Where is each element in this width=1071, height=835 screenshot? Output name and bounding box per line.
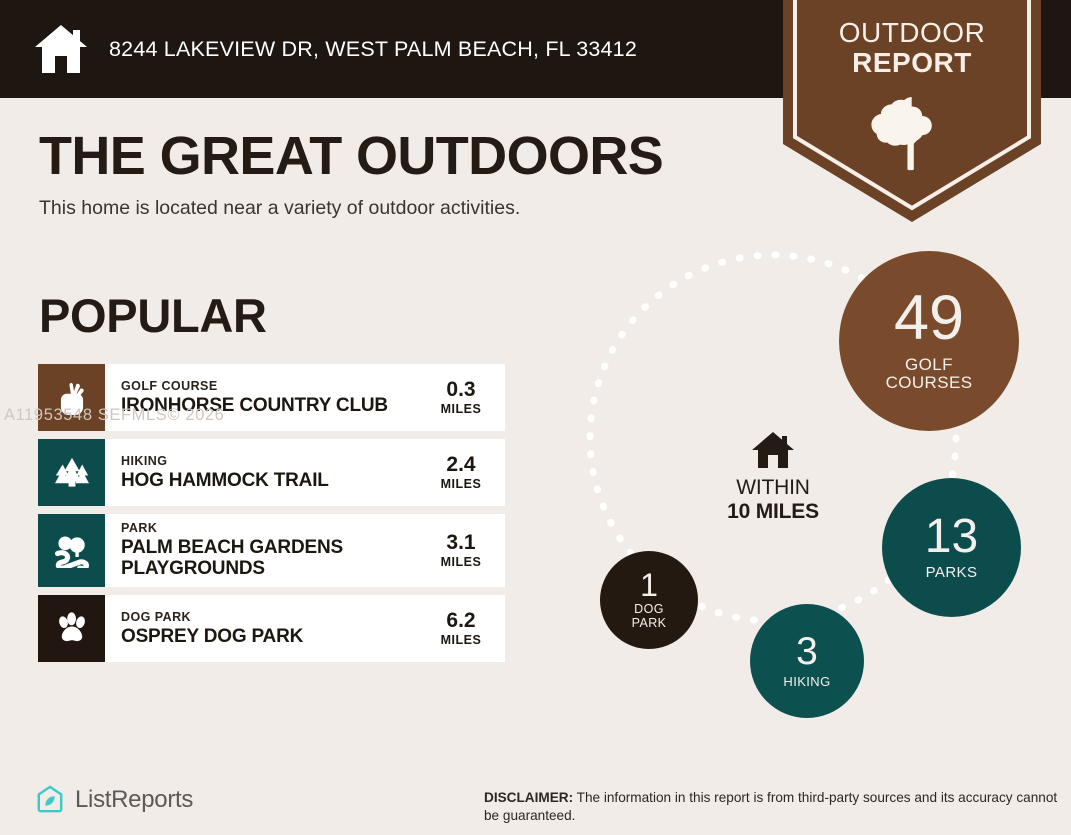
bubble-value: 1 (640, 570, 658, 600)
list-item-distance: 0.3 MILES (431, 379, 491, 416)
list-item[interactable]: PARK PALM BEACH GARDENS PLAYGROUNDS 3.1 … (38, 514, 505, 587)
bubble-label-line-1: DOG (632, 603, 667, 617)
popular-list: GOLF COURSE IRONHORSE COUNTRY CLUB 0.3 M… (38, 364, 505, 670)
disclaimer-label: DISCLAIMER: (484, 790, 573, 805)
within-10-miles-diagram: 49 GOLF COURSES 13 PARKS 3 HIKING 1 DOG … (575, 240, 1071, 740)
pine-trees-icon (38, 439, 105, 506)
list-item[interactable]: DOG PARK OSPREY DOG PARK 6.2 MILES (38, 595, 505, 662)
list-item-body: HIKING HOG HAMMOCK TRAIL 2.4 MILES (105, 439, 505, 506)
bubble-dog-park[interactable]: 1 DOG PARK (600, 551, 698, 649)
outdoor-report-page: 8244 LAKEVIEW DR, WEST PALM BEACH, FL 33… (0, 0, 1071, 835)
bubble-label-line-1: GOLF (886, 356, 973, 374)
list-item-body: PARK PALM BEACH GARDENS PLAYGROUNDS 3.1 … (105, 514, 505, 587)
list-item-category: HIKING (121, 454, 329, 470)
header-address: 8244 LAKEVIEW DR, WEST PALM BEACH, FL 33… (109, 37, 637, 62)
list-item-text: DOG PARK OSPREY DOG PARK (121, 610, 303, 647)
list-item-name: OSPREY DOG PARK (121, 626, 303, 647)
page-subtitle: This home is located near a variety of o… (39, 197, 663, 220)
diagram-center-label: WITHIN 10 MILES (713, 430, 833, 523)
bubble-label: GOLF COURSES (886, 356, 973, 393)
golf-bag-icon (38, 364, 105, 431)
park-trees-path-icon (38, 514, 105, 587)
bubble-value: 13 (925, 514, 978, 560)
list-item-text: PARK PALM BEACH GARDENS PLAYGROUNDS (121, 521, 431, 579)
listreports-house-leaf-icon (36, 785, 64, 814)
list-item-name: HOG HAMMOCK TRAIL (121, 470, 329, 491)
bubble-label-line-2: COURSES (886, 374, 973, 392)
home-icon (713, 430, 833, 470)
distance-value: 6.2 (431, 610, 491, 633)
list-item-text: GOLF COURSE IRONHORSE COUNTRY CLUB (121, 379, 388, 416)
list-item-body: DOG PARK OSPREY DOG PARK 6.2 MILES (105, 595, 505, 662)
bubble-label: PARKS (926, 565, 978, 581)
disclaimer: DISCLAIMER: The information in this repo… (484, 789, 1060, 825)
list-item-name: PALM BEACH GARDENS PLAYGROUNDS (121, 537, 431, 580)
list-item-distance: 2.4 MILES (431, 454, 491, 491)
bubble-hiking[interactable]: 3 HIKING (750, 604, 864, 718)
bubble-golf-courses[interactable]: 49 GOLF COURSES (839, 251, 1019, 431)
bubble-label: HIKING (783, 675, 830, 689)
center-label-line-1: WITHIN (713, 476, 833, 500)
distance-value: 3.1 (431, 532, 491, 555)
list-item-distance: 3.1 MILES (431, 532, 491, 569)
distance-unit: MILES (431, 402, 491, 416)
list-item-text: HIKING HOG HAMMOCK TRAIL (121, 454, 329, 491)
list-item-name: IRONHORSE COUNTRY CLUB (121, 395, 388, 416)
outdoor-report-badge: OUTDOOR REPORT (783, 0, 1041, 222)
distance-unit: MILES (431, 633, 491, 647)
center-label-line-2: 10 MILES (713, 500, 833, 524)
bubble-value: 3 (796, 633, 818, 670)
page-title: THE GREAT OUTDOORS (39, 128, 663, 185)
distance-unit: MILES (431, 477, 491, 491)
list-item[interactable]: HIKING HOG HAMMOCK TRAIL 2.4 MILES (38, 439, 505, 506)
list-item[interactable]: GOLF COURSE IRONHORSE COUNTRY CLUB 0.3 M… (38, 364, 505, 431)
distance-value: 0.3 (431, 379, 491, 402)
popular-heading: POPULAR (39, 288, 267, 343)
home-icon (33, 23, 89, 75)
paw-print-icon (38, 595, 105, 662)
listreports-wordmark: ListReports (75, 786, 193, 814)
distance-value: 2.4 (431, 454, 491, 477)
bubble-label: DOG PARK (632, 603, 667, 630)
list-item-category: PARK (121, 521, 431, 537)
list-item-category: GOLF COURSE (121, 379, 388, 395)
list-item-body: GOLF COURSE IRONHORSE COUNTRY CLUB 0.3 M… (105, 364, 505, 431)
list-item-category: DOG PARK (121, 610, 303, 626)
title-block: THE GREAT OUTDOORS This home is located … (39, 128, 663, 220)
bubble-parks[interactable]: 13 PARKS (882, 478, 1021, 617)
bubble-label-line-2: PARK (632, 617, 667, 631)
list-item-distance: 6.2 MILES (431, 610, 491, 647)
distance-unit: MILES (431, 555, 491, 569)
listreports-logo[interactable]: ListReports (36, 785, 193, 814)
bubble-value: 49 (894, 289, 964, 349)
